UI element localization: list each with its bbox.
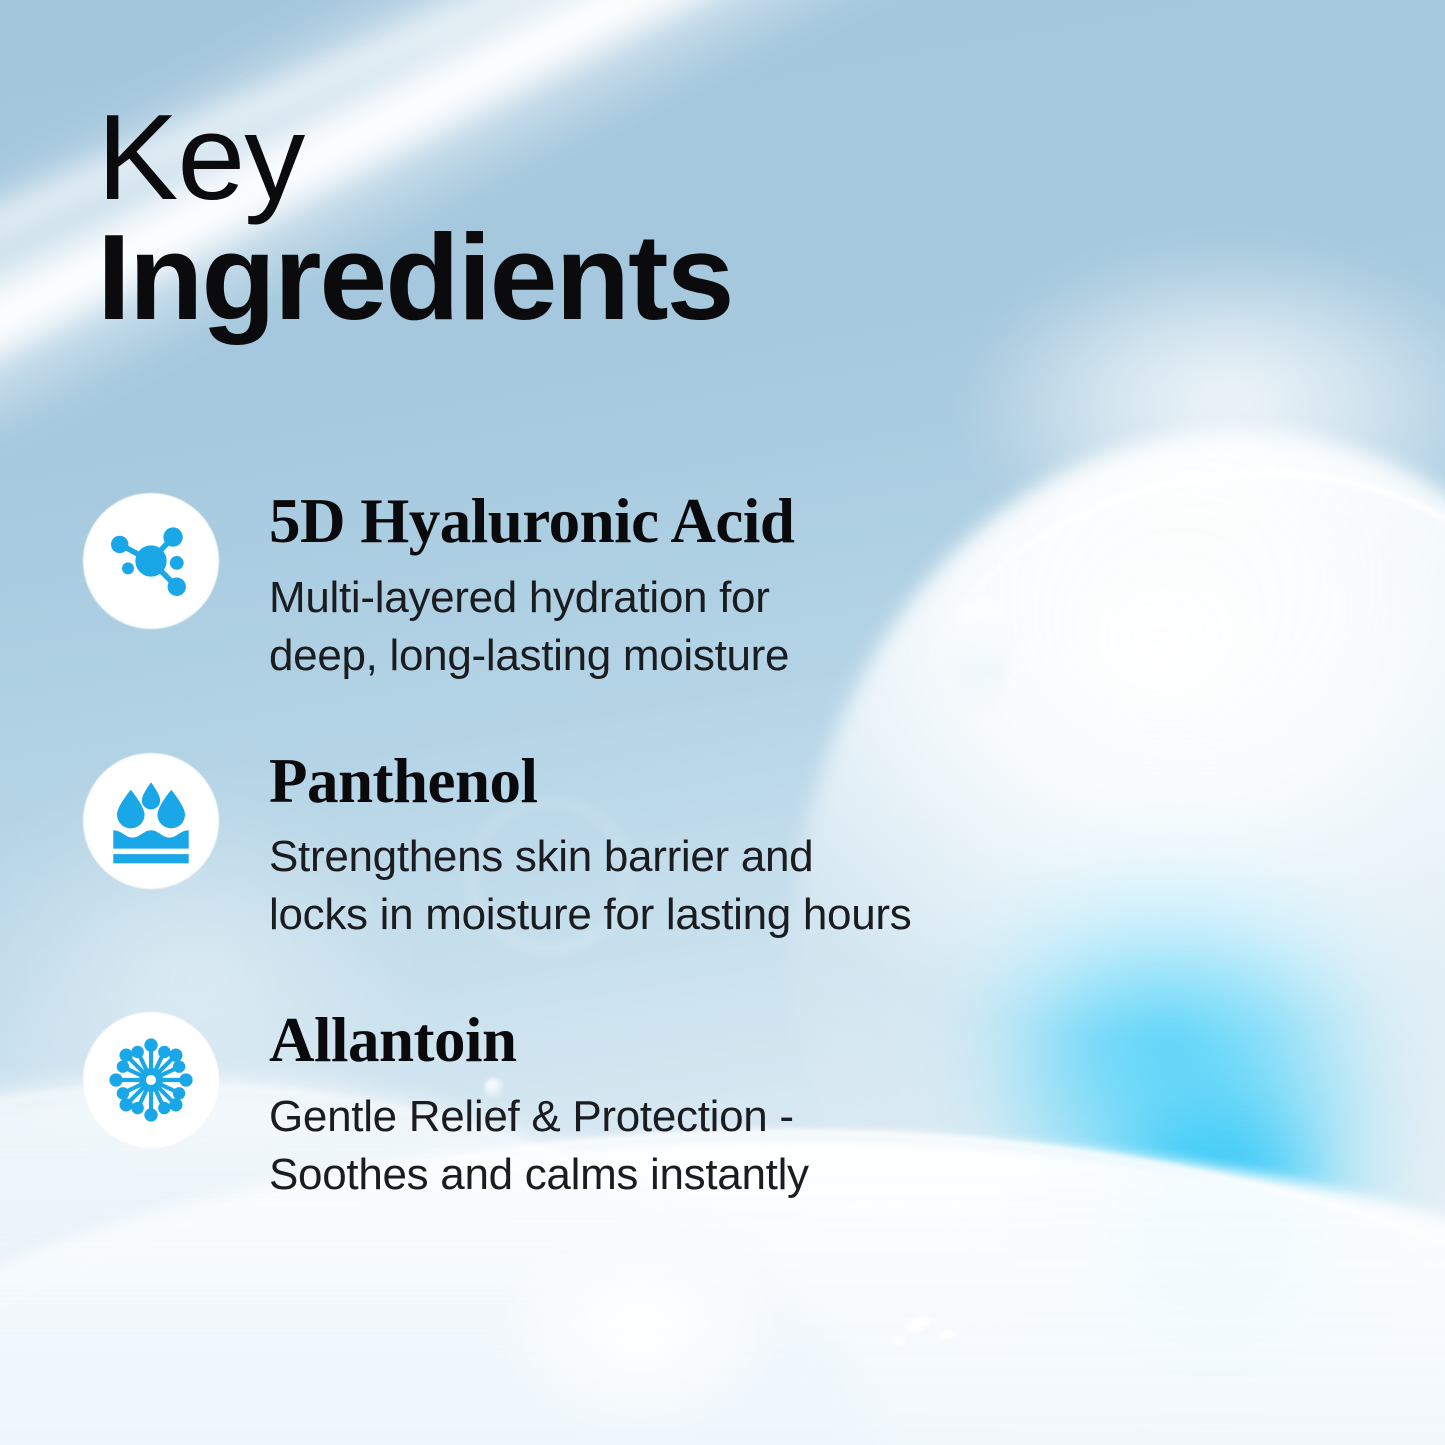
ingredient-description: Multi-layered hydration for deep, long-l… bbox=[269, 569, 794, 685]
page-title-line2: Ingredients bbox=[97, 213, 733, 341]
ingredient-name: 5D Hyaluronic Acid bbox=[269, 489, 794, 555]
ingredient-description-line2: Soothes and calms instantly bbox=[269, 1150, 809, 1199]
ingredient-text-block: 5D Hyaluronic Acid Multi-layered hydrati… bbox=[269, 487, 794, 685]
page-title-line1: Key bbox=[97, 95, 733, 219]
ingredients-list: 5D Hyaluronic Acid Multi-layered hydrati… bbox=[83, 487, 1183, 1204]
ingredient-name: Panthenol bbox=[269, 749, 911, 815]
ingredient-item-hyaluronic-acid: 5D Hyaluronic Acid Multi-layered hydrati… bbox=[83, 487, 1183, 685]
ingredient-icon-badge bbox=[83, 1012, 219, 1148]
ingredient-icon-badge bbox=[83, 753, 219, 889]
ingredient-icon-badge bbox=[83, 493, 219, 629]
ingredient-description: Strengthens skin barrier and locks in mo… bbox=[269, 828, 911, 944]
ingredient-description-line1: Strengthens skin barrier and bbox=[269, 832, 813, 881]
ingredient-description-line2: deep, long-lasting moisture bbox=[269, 631, 789, 680]
ingredient-text-block: Allantoin Gentle Relief & Protection - S… bbox=[269, 1006, 809, 1204]
ingredient-item-allantoin: Allantoin Gentle Relief & Protection - S… bbox=[83, 1006, 1183, 1204]
ingredient-description: Gentle Relief & Protection - Soothes and… bbox=[269, 1088, 809, 1204]
water-droplets-icon bbox=[105, 775, 197, 867]
ingredient-description-line1: Multi-layered hydration for bbox=[269, 573, 770, 622]
page-title: Key Ingredients bbox=[97, 95, 733, 342]
molecule-icon bbox=[105, 515, 197, 607]
ingredient-item-panthenol: Panthenol Strengthens skin barrier and l… bbox=[83, 747, 1183, 945]
key-ingredients-poster: Key Ingredients bbox=[0, 0, 1445, 1445]
ingredient-description-line1: Gentle Relief & Protection - bbox=[269, 1092, 794, 1141]
ingredient-description-line2: locks in moisture for lasting hours bbox=[269, 890, 911, 939]
ingredient-name: Allantoin bbox=[269, 1008, 809, 1074]
radial-burst-icon bbox=[105, 1034, 197, 1126]
ingredient-text-block: Panthenol Strengthens skin barrier and l… bbox=[269, 747, 911, 945]
